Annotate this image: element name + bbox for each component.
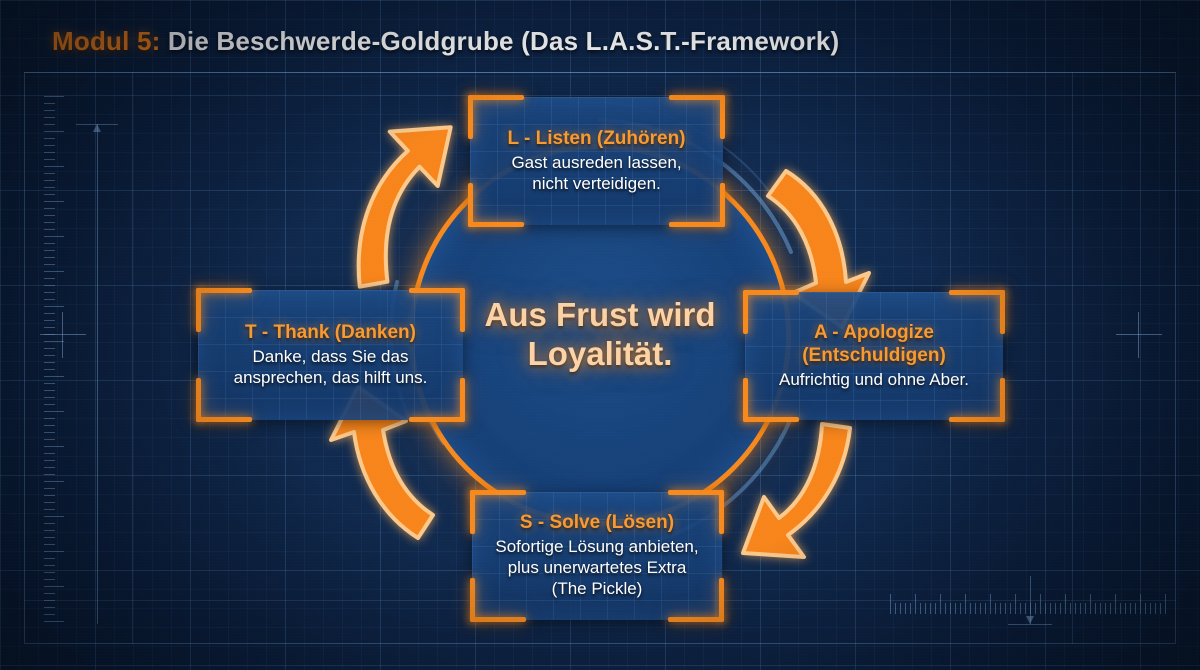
- title-rule: [24, 72, 1176, 73]
- step-line-listen-1: Gast ausreden lassen,: [484, 153, 709, 174]
- step-heading-solve: S - Solve (Lösen): [486, 512, 708, 534]
- step-heading-apologize-2: (Entschuldigen): [759, 345, 989, 367]
- step-line-solve-1: Sofortige Lösung anbieten,: [486, 537, 708, 558]
- step-heading-apologize-1: A - Apologize: [759, 322, 989, 344]
- step-box-solve[interactable]: S - Solve (Lösen) Sofortige Lösung anbie…: [472, 492, 722, 620]
- center-line-1: Aus Frust wird: [450, 296, 750, 335]
- step-line-thank-1: Danke, dass Sie das: [212, 347, 449, 368]
- step-line-solve-3: (The Pickle): [486, 579, 708, 600]
- dimension-arrow-down: [1030, 576, 1031, 624]
- step-box-apologize[interactable]: A - Apologize (Entschuldigen) Aufrichtig…: [745, 292, 1003, 420]
- step-heading-listen: L - Listen (Zuhören): [484, 128, 709, 150]
- dimension-tick-top: [76, 124, 118, 125]
- crosshair-marker-left: [40, 312, 86, 358]
- page-title: Modul 5: Die Beschwerde-Goldgrube (Das L…: [52, 26, 839, 57]
- step-line-solve-2: plus unerwartetes Extra: [486, 558, 708, 579]
- dimension-tick-bottom: [1008, 624, 1052, 625]
- step-heading-thank: T - Thank (Danken): [212, 322, 449, 344]
- title-text: Die Beschwerde-Goldgrube (Das L.A.S.T.-F…: [168, 26, 840, 56]
- center-statement: Aus Frust wird Loyalität.: [450, 296, 750, 374]
- module-label: Modul 5:: [52, 26, 160, 56]
- slide-canvas: Modul 5: Die Beschwerde-Goldgrube (Das L…: [0, 0, 1200, 670]
- frame-guide-line-right: [1072, 72, 1073, 644]
- step-line-apologize-1: Aufrichtig und ohne Aber.: [759, 370, 989, 391]
- step-box-thank[interactable]: T - Thank (Danken) Danke, dass Sie das a…: [198, 290, 463, 420]
- center-line-2: Loyalität.: [450, 335, 750, 374]
- dimension-arrow-up: [97, 124, 98, 624]
- crosshair-marker-right: [1116, 312, 1162, 358]
- step-line-thank-2: ansprechen, das hilft uns.: [212, 368, 449, 389]
- step-box-listen[interactable]: L - Listen (Zuhören) Gast ausreden lasse…: [470, 97, 723, 225]
- step-line-listen-2: nicht verteidigen.: [484, 174, 709, 195]
- frame-guide-line-left: [132, 72, 133, 644]
